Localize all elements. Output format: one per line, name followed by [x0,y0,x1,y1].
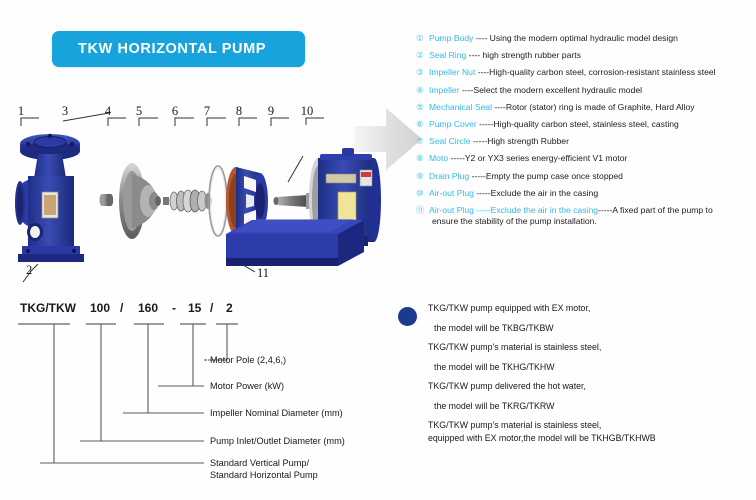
feature-continuation: ensure the stability of the pump install… [429,216,754,227]
feature-name: Impeller [429,85,460,95]
bullet-dot-icon [398,307,417,326]
model-nomenclature-diagram: TKG/TKW 100 / 160 - 15 / 2 [8,296,390,494]
feature-number: ① [416,33,429,44]
code-token-pole: 2 [226,301,233,315]
feature-number: ⑦ [416,136,429,147]
note-line: TKG/TKW pump's material is stainless ste… [428,420,754,431]
feature-desc: Select the modern excellent hydraulic mo… [473,85,642,95]
feature-separator: ----- [474,188,491,198]
part-base-plate [226,216,364,266]
feature-cyan-part: Air-out Plug -----Exclude the air in the… [429,205,598,215]
nomen-label-impeller-diameter: Impeller Nominal Diameter (mm) [210,408,343,418]
feature-desc: Exclude the air in the casing [491,188,599,198]
feature-text: Pump Body ---- Using the modern optimal … [429,33,754,44]
feature-text: Air-out Plug -----Exclude the air in the… [429,188,754,199]
list-item: ② Seal Ring ---- high strength rubber pa… [416,50,754,61]
list-item: ④ Impeller ----Select the modern excelle… [416,85,754,96]
page-title-banner: TKW HORIZONTAL PUMP [52,31,305,67]
note-line: the model will be TKRG/TKRW [428,401,754,412]
feature-desc: Empty the pump case once stopped [486,171,623,181]
feature-number: ⑨ [416,171,429,182]
feature-separator: ---- [460,85,474,95]
nomen-label-motor-pole: Motor Pole (2,4,6,) [210,355,286,365]
part-seal-circle [209,166,227,236]
note-line: TKG/TKW pump's material is stainless ste… [428,342,754,353]
feature-separator: ----- [448,153,465,163]
code-token-impeller: 160 [138,301,158,315]
callout-6: 6 [172,104,178,118]
feature-desc: Using the modern optimal hydraulic model… [490,33,678,43]
feature-separator: ----- [471,136,488,146]
callout-11: 11 [257,266,269,280]
feature-name: Pump Body [429,33,473,43]
part-impeller-nut [100,194,114,206]
model-variants-notes: TKG/TKW pump equipped with EX motor, the… [398,303,754,453]
callout-1: 1 [18,104,24,118]
feature-number: ⑩ [416,188,429,199]
feature-desc: High strength Rubber [487,136,569,146]
callout-7: 7 [204,104,210,118]
feature-number: ⑪ [416,205,429,216]
feature-desc: Rotor (stator) ring is made of Graphite,… [506,102,695,112]
feature-desc: Y2 or YX3 series energy-efficient V1 mot… [465,153,628,163]
note-line: TKG/TKW pump equipped with EX motor, [428,303,754,314]
note-line: the model will be TKHG/TKHW [428,362,754,373]
feature-text: Moto -----Y2 or YX3 series energy-effici… [429,153,754,164]
list-item: ⑨ Drain Plug -----Empty the pump case on… [416,171,754,182]
callout-5: 5 [136,104,142,118]
callout-9: 9 [268,104,274,118]
feature-text: Pump Cover -----High-quality carbon stee… [429,119,754,130]
feature-text: Drain Plug -----Empty the pump case once… [429,171,754,182]
nomen-label-standard-horizontal: Standard Horizontal Pump [210,470,318,480]
list-item: ① Pump Body ---- Using the modern optima… [416,33,754,44]
feature-number: ⑥ [416,119,429,130]
feature-list: ① Pump Body ---- Using the modern optima… [416,33,754,233]
feature-text: Seal Ring ---- high strength rubber part… [429,50,754,61]
feature-name: Impeller Nut [429,67,475,77]
feature-separator: ---- [466,50,482,60]
feature-separator: ----- [477,119,494,129]
right-arrow-icon [352,104,424,174]
code-token-power: 15 [188,301,202,315]
callout-2: 2 [26,263,32,277]
code-token-prefix: TKG/TKW [20,301,77,315]
feature-text: Mechanical Seal ----Rotor (stator) ring … [429,102,754,113]
callout-3: 3 [62,104,68,118]
feature-name: Seal Circle [429,136,471,146]
feature-separator: ---- [492,102,506,112]
part-impeller [119,163,161,239]
code-token-dash: - [172,301,176,315]
feature-name: Air-out Plug [429,188,474,198]
part-mechanical-seal [163,190,212,212]
note-line: equipped with EX motor,the model will be… [428,433,754,444]
note-line: the model will be TKBG/TKBW [428,323,754,334]
callout-10: 10 [301,104,314,118]
feature-number: ⑧ [416,153,429,164]
feature-separator: ---- [473,33,489,43]
code-token-slash-2: / [210,301,214,315]
code-token-inlet: 100 [90,301,110,315]
feature-desc: high strength rubber parts [483,50,581,60]
feature-desc: High-quality carbon steel, corrosion-res… [489,67,715,77]
nomen-label-standard-vertical: Standard Vertical Pump/ [210,458,310,468]
feature-number: ④ [416,85,429,96]
exploded-pump-diagram: 1 3 4 5 6 7 8 9 10 2 11 [8,96,390,286]
feature-text: Impeller Nut ----High-quality carbon ste… [429,67,754,78]
list-item: ⑩ Air-out Plug -----Exclude the air in t… [416,188,754,199]
list-item: ⑧ Moto -----Y2 or YX3 series energy-effi… [416,153,754,164]
list-item: ⑦ Seal Circle -----High strength Rubber [416,136,754,147]
list-item: ⑤ Mechanical Seal ----Rotor (stator) rin… [416,102,754,113]
feature-number: ③ [416,67,429,78]
nomen-label-motor-power: Motor Power (kW) [210,381,284,391]
feature-separator: ----- [469,171,486,181]
feature-text: Impeller ----Select the modern excellent… [429,85,754,96]
feature-desc: High-quality carbon steel, stainless ste… [493,119,678,129]
page-title: TKW HORIZONTAL PUMP [52,41,266,57]
feature-number: ② [416,50,429,61]
callout-4: 4 [105,104,112,118]
list-item: ⑥ Pump Cover -----High-quality carbon st… [416,119,754,130]
part-pump-body [15,134,84,262]
list-item: ③ Impeller Nut ----High-quality carbon s… [416,67,754,78]
page-root: TKW HORIZONTAL PUMP [0,0,756,500]
feature-name: Drain Plug [429,171,469,181]
feature-text: Air-out Plug -----Exclude the air in the… [429,205,754,227]
feature-name: Moto [429,153,448,163]
feature-black-part: -----A fixed part of the pump to [598,205,713,215]
nomen-label-inlet-diameter: Pump Inlet/Outlet Diameter (mm) [210,436,345,446]
feature-name: Mechanical Seal [429,102,492,112]
feature-number: ⑤ [416,102,429,113]
code-token-slash-1: / [120,301,124,315]
feature-name: Pump Cover [429,119,477,129]
feature-text: Seal Circle -----High strength Rubber [429,136,754,147]
feature-separator: ---- [475,67,489,77]
note-line: TKG/TKW pump delivered the hot water, [428,381,754,392]
list-item: ⑪ Air-out Plug -----Exclude the air in t… [416,205,754,227]
callout-8: 8 [236,104,242,118]
notes-lines: TKG/TKW pump equipped with EX motor, the… [398,303,754,444]
feature-name: Seal Ring [429,50,466,60]
